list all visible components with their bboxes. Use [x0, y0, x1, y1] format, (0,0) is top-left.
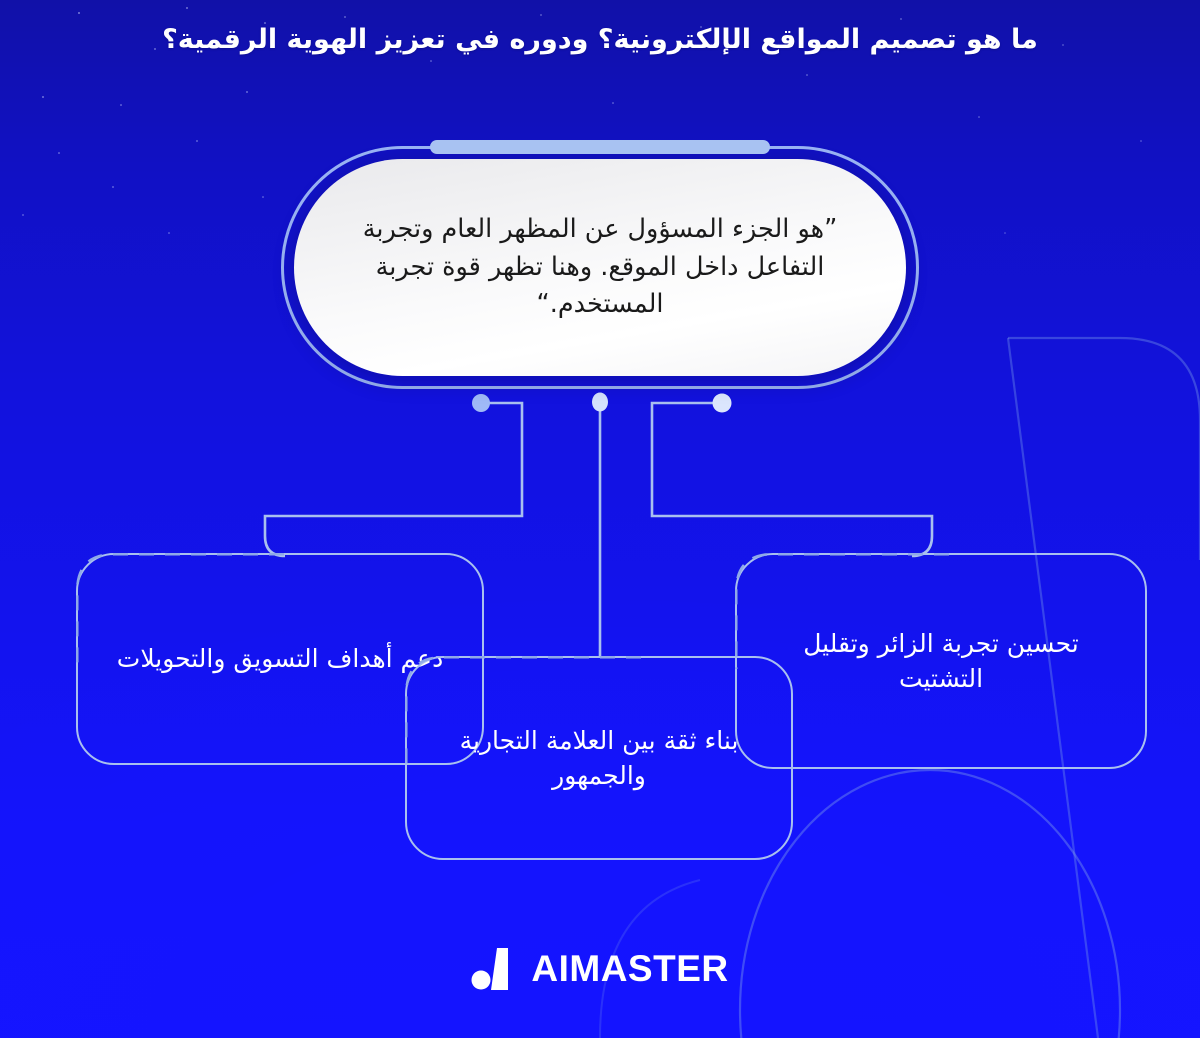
- branch-box-label: بناء ثقة بين العلامة التجارية والجمهور: [407, 723, 791, 794]
- aimaster-logo-mark-icon: [471, 948, 517, 990]
- quote-card-surface: ”هو الجزء المسؤول عن المظهر العام وتجربة…: [294, 159, 906, 376]
- quote-text: ”هو الجزء المسؤول عن المظهر العام وتجربة…: [294, 211, 906, 324]
- infographic-canvas: ما هو تصميم المواقع الإلكترونية؟ ودوره ف…: [0, 0, 1200, 1038]
- connector-path-right: [652, 403, 932, 556]
- deco-slab-top-right: [1008, 338, 1200, 560]
- connector-path-left: [265, 403, 522, 556]
- brand-wordmark: AIMASTER: [531, 948, 728, 990]
- page-title: ما هو تصميم المواقع الإلكترونية؟ ودوره ف…: [0, 22, 1200, 58]
- connector-node-left: [472, 394, 490, 412]
- brand-logo: AIMASTER: [0, 948, 1200, 990]
- quote-card-tab-pill: [430, 140, 770, 154]
- deco-ellipse-bottom-right: [740, 770, 1120, 1038]
- quote-card: ”هو الجزء المسؤول عن المظهر العام وتجربة…: [281, 146, 919, 389]
- branch-box-label: تحسين تجربة الزائر وتقليل التشتيت: [737, 626, 1145, 697]
- connector-node-right: [713, 394, 732, 413]
- branch-box-improve-visitor-experience[interactable]: تحسين تجربة الزائر وتقليل التشتيت: [735, 553, 1147, 769]
- logo-glyph-svg: [471, 948, 517, 990]
- connector-node-center: [592, 393, 608, 412]
